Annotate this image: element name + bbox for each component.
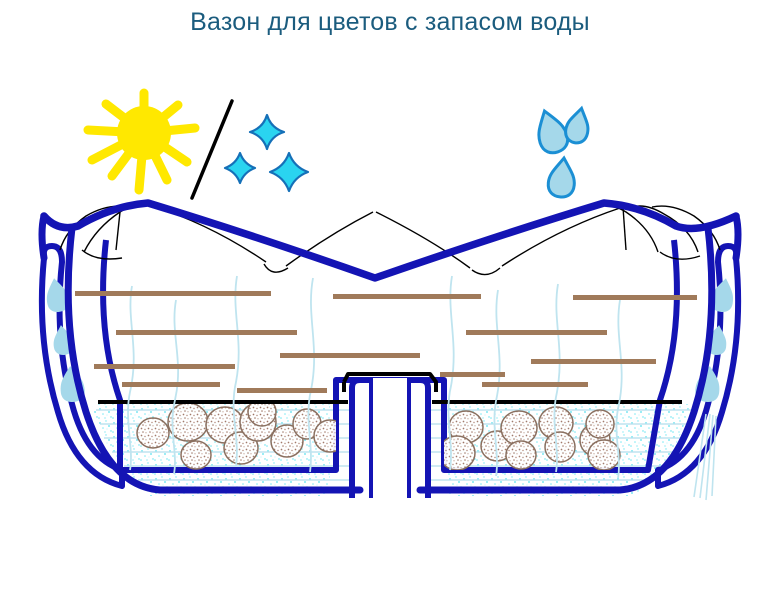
illustration-canvas: Вазон для цветов с запасом воды: [0, 0, 780, 600]
flower-pot-diagram: [0, 0, 780, 600]
pot-scalloped-rim: [42, 203, 738, 278]
sparkle-icon: [270, 153, 308, 191]
sparkle-icons: [225, 115, 308, 191]
water-droplet-icon: [547, 157, 577, 199]
water-droplet-icon: [563, 106, 592, 145]
sparkle-icon: [225, 153, 255, 183]
clay-pebble-layer-right: [439, 407, 620, 470]
water-droplet-icons: [531, 106, 592, 198]
center-fill-tube: [344, 374, 436, 500]
diagonal-slash-line: [192, 101, 232, 198]
sun-icon: [88, 93, 195, 190]
sparkle-icon: [250, 115, 284, 149]
